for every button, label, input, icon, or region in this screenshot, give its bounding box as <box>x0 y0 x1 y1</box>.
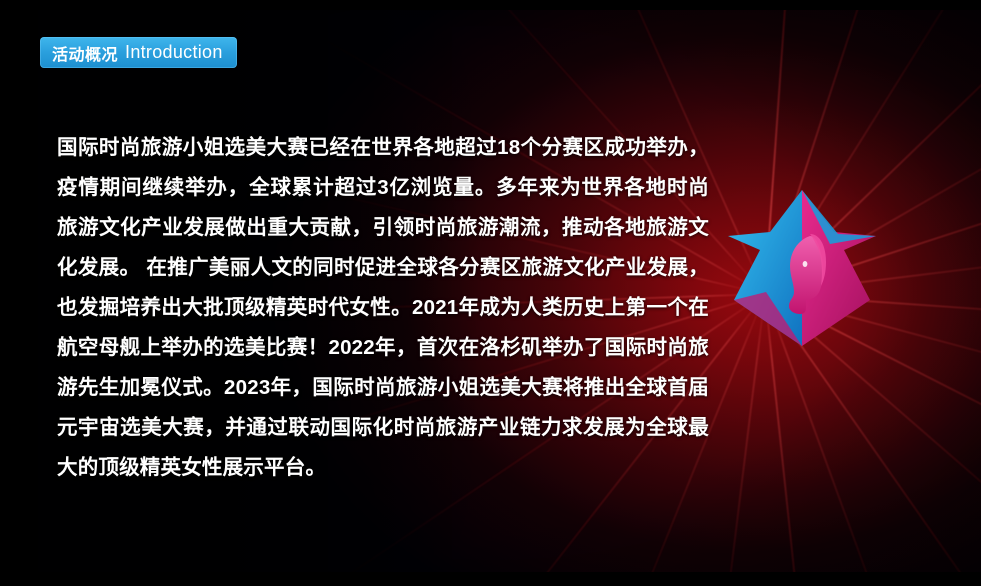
star-woman-logo-svg <box>726 188 878 348</box>
section-title-cn: 活动概况 <box>52 41 118 65</box>
introduction-body: 国际时尚旅游小姐选美大赛已经在世界各地超过18个分赛区成功举办，疫情期间继续举办… <box>57 128 709 488</box>
star-woman-logo <box>726 188 878 348</box>
bottom-edge-bar <box>0 572 981 586</box>
top-edge-bar <box>0 0 981 10</box>
slide-canvas: 活动概况 Introduction 国际时尚旅游小姐选美大赛已经在世界各地超过1… <box>0 0 981 586</box>
introduction-paragraph: 国际时尚旅游小姐选美大赛已经在世界各地超过18个分赛区成功举办，疫情期间继续举办… <box>57 128 709 488</box>
section-title-badge: 活动概况 Introduction <box>40 37 237 68</box>
section-title-en: Introduction <box>125 42 223 63</box>
